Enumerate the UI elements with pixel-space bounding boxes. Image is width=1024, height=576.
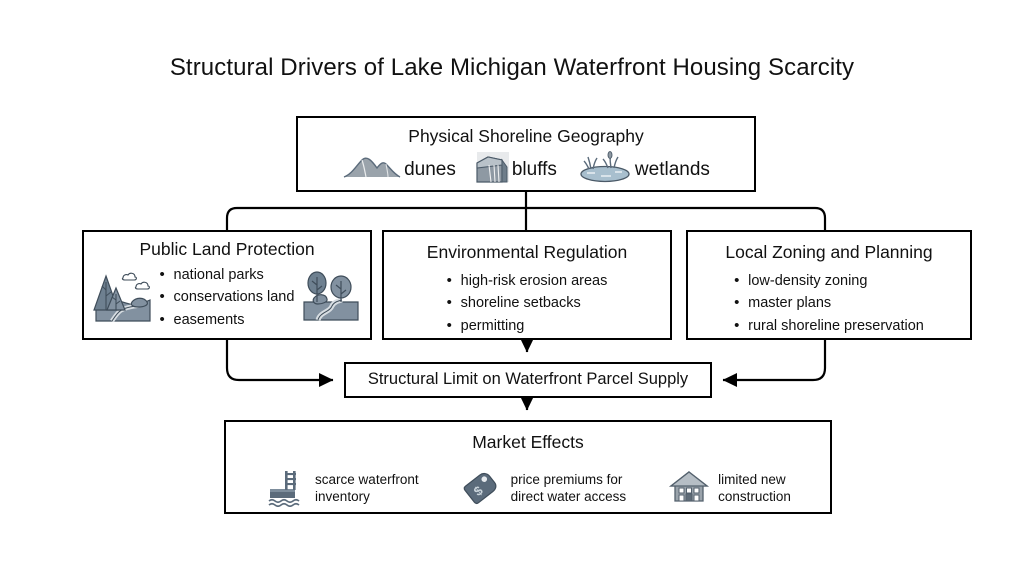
market-item-scarce-inventory: scarce waterfront inventory [265, 465, 419, 512]
node-body: low-density zoning master plans rural sh… [688, 270, 970, 337]
bullet-item: master plans [734, 292, 924, 314]
market-label: price premiums for direct water access [511, 472, 627, 506]
geography-item-bluffs: bluffs [476, 151, 557, 188]
bullet-item: high-risk erosion areas [447, 270, 608, 292]
diagram-canvas: Structural Drivers of Lake Michigan Wate… [0, 0, 1024, 576]
market-label: scarce waterfront inventory [315, 472, 419, 506]
wire-public-to-limit [227, 340, 333, 380]
bullet-item: national parks [160, 264, 295, 286]
market-item-price-premiums: $ price premiums for direct water access [461, 465, 627, 512]
node-market-effects[interactable]: Market Effects scarce [224, 420, 832, 514]
page-title: Structural Drivers of Lake Michigan Wate… [0, 54, 1024, 82]
node-body: high-risk erosion areas shoreline setbac… [384, 270, 670, 337]
national-park-scene-icon [92, 266, 154, 329]
house-icon [668, 465, 710, 512]
node-title: Public Land Protection [84, 232, 370, 260]
geography-label: dunes [404, 159, 456, 181]
node-title: Physical Shoreline Geography [298, 126, 754, 147]
node-title: Environmental Regulation [384, 232, 670, 263]
node-local-zoning-and-planning[interactable]: Local Zoning and Planning low-density zo… [686, 230, 972, 340]
bullet-item: shoreline setbacks [447, 292, 608, 314]
node-title: Structural Limit on Waterfront Parcel Su… [368, 370, 688, 390]
bullet-item: rural shoreline preservation [734, 315, 924, 337]
node-title: Local Zoning and Planning [688, 232, 970, 263]
wire-driver-bus [227, 208, 825, 230]
geography-item-wetlands: wetlands [577, 151, 710, 188]
node-environmental-regulation[interactable]: Environmental Regulation high-risk erosi… [382, 230, 672, 340]
node-structural-limit[interactable]: Structural Limit on Waterfront Parcel Su… [344, 362, 712, 398]
geography-items: dunes bluffs [298, 151, 754, 188]
market-item-limited-construction: limited new construction [668, 465, 791, 512]
bullet-list: high-risk erosion areas shoreline setbac… [447, 270, 608, 337]
bullet-item: easements [160, 309, 295, 331]
node-public-land-protection[interactable]: Public Land Protection national parks [82, 230, 372, 340]
market-items: scarce waterfront inventory $ price prem… [226, 465, 830, 512]
conservation-trees-path-icon [300, 266, 362, 329]
bullet-item: low-density zoning [734, 270, 924, 292]
node-physical-shoreline-geography[interactable]: Physical Shoreline Geography dunes [296, 116, 756, 192]
bullet-item: permitting [447, 315, 608, 337]
wire-zoning-to-limit [723, 340, 825, 380]
geography-label: wetlands [635, 159, 710, 181]
dunes-icon [342, 152, 402, 187]
node-body: national parks conservations land easeme… [84, 264, 370, 331]
wetlands-icon [577, 151, 633, 188]
price-tag-icon: $ [461, 465, 503, 512]
bullet-list: national parks conservations land easeme… [160, 264, 295, 331]
dock-pier-icon [265, 465, 307, 512]
bullet-list: low-density zoning master plans rural sh… [734, 270, 924, 337]
bullet-item: conservations land [160, 286, 295, 308]
market-label: limited new construction [718, 472, 791, 506]
geography-item-dunes: dunes [342, 152, 456, 187]
bluffs-icon [476, 151, 510, 188]
geography-label: bluffs [512, 159, 557, 181]
node-title: Market Effects [226, 432, 830, 453]
